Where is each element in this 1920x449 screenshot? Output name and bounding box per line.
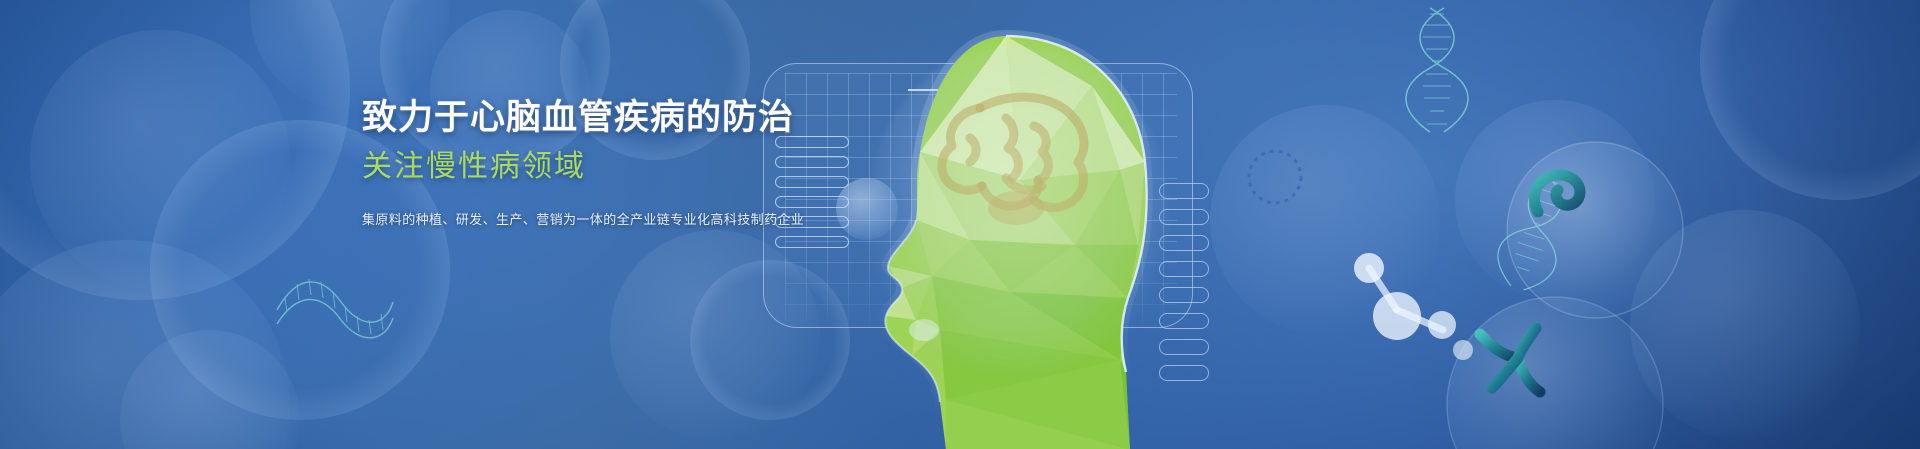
bokeh-ring-6 [1700, 0, 1920, 200]
banner-headline: 致力于心脑血管疾病的防治 [362, 96, 804, 141]
headline-part-2: 心脑血管疾病 [470, 98, 686, 137]
cell-icon [1240, 142, 1310, 212]
head-halo [868, 44, 1168, 374]
molecule-node [1354, 253, 1384, 283]
molecule-node [1453, 340, 1473, 360]
bokeh-soft-5 [120, 330, 300, 449]
molecule-node [1428, 311, 1456, 339]
headline-part-1: 致力于 [362, 98, 470, 137]
headline-part-3: 的防治 [686, 98, 794, 137]
hero-banner: 致力于心脑血管疾病的防治 关注慢性病领域 集原料的种植、研发、生产、营销为一体的… [0, 0, 1920, 449]
banner-copy: 致力于心脑血管疾病的防治 关注慢性病领域 集原料的种植、研发、生产、营销为一体的… [362, 96, 804, 228]
molecule-node [1373, 292, 1421, 340]
dna-helix-icon [275, 250, 395, 340]
banner-subheadline: 关注慢性病领域 [362, 147, 804, 186]
low-poly-head-graphic [820, 30, 1240, 449]
dna-helix-icon [1400, 6, 1474, 136]
bokeh-soft-2 [0, 240, 290, 449]
bokeh-soft-9 [250, 0, 450, 110]
bokeh-soft-1 [30, 30, 290, 290]
bacterium-icon [1524, 168, 1594, 228]
banner-tagline: 集原料的种植、研发、生产、营销为一体的全产业链专业化高科技制药企业 [362, 209, 804, 228]
molecule-icon [1345, 246, 1475, 366]
bacterium-icon [1470, 322, 1556, 398]
